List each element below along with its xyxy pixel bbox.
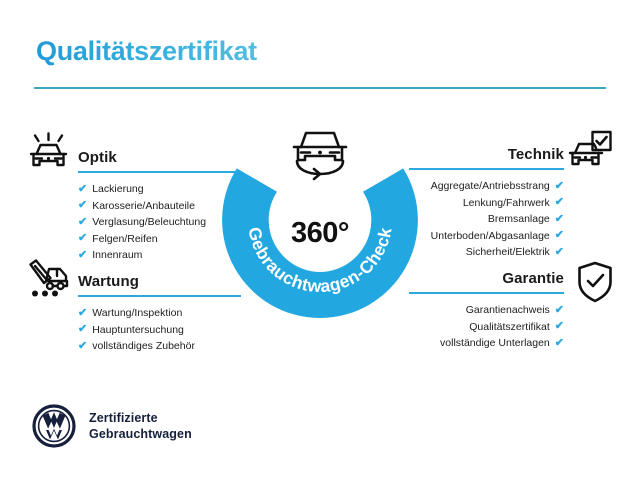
check-icon: ✔: [78, 184, 87, 195]
title-divider: [34, 87, 606, 89]
section-wartung: Wartung ✔ Wartung/Inspektion ✔ Hauptunte…: [78, 267, 241, 355]
volkswagen-logo: [32, 404, 76, 448]
check-icon: ✔: [555, 197, 564, 208]
section-technik-divider: [409, 168, 564, 170]
list-item: ✔ Hauptuntersuchung: [78, 322, 241, 339]
section-wartung-list: ✔ Wartung/Inspektion ✔ Hauptuntersuchung…: [78, 305, 241, 355]
section-technik-heading: Technik: [508, 146, 564, 163]
list-item: ✔ Qualitätszertifikat: [409, 319, 564, 336]
check-icon: ✔: [78, 250, 87, 261]
car-service-pen-icon: [26, 258, 72, 305]
check-icon: ✔: [78, 217, 87, 228]
check-icon: ✔: [78, 324, 87, 335]
section-optik-divider: [78, 171, 241, 173]
section-optik-list: ✔ Lackierung ✔ Karosserie/Anbauteile ✔ V…: [78, 181, 241, 264]
section-wartung-heading: Wartung: [78, 273, 139, 290]
list-item: ✔ vollständiges Zubehör: [78, 338, 241, 355]
section-garantie-heading: Garantie: [502, 270, 564, 287]
qualitaetszertifikat-page: Qualitätszertifikat: [0, 0, 640, 480]
section-technik-list: ✔ Aggregate/Antriebsstrang ✔ Lenkung/Fah…: [409, 178, 564, 261]
list-item-label: Lackierung: [92, 181, 143, 198]
volkswagen-footer: Zertifizierte Gebrauchtwagen: [32, 404, 192, 448]
list-item: ✔ Innenraum: [78, 247, 241, 264]
list-item: ✔ Aggregate/Antriebsstrang: [409, 178, 564, 195]
list-item: ✔ Bremsanlage: [409, 211, 564, 228]
volkswagen-footer-text: Zertifizierte Gebrauchtwagen: [89, 410, 192, 442]
list-item-label: Verglasung/Beleuchtung: [92, 214, 206, 231]
list-item: ✔ Unterboden/Abgasanlage: [409, 228, 564, 245]
section-wartung-divider: [78, 295, 241, 297]
check-icon: ✔: [78, 200, 87, 211]
list-item-label: Unterboden/Abgasanlage: [431, 228, 550, 245]
car-front-rotate-icon: [284, 125, 356, 185]
list-item-label: Sicherheit/Elektrik: [466, 244, 550, 261]
list-item-label: Aggregate/Antriebsstrang: [431, 178, 550, 195]
check-icon: ✔: [78, 308, 87, 319]
list-item-label: vollständige Unterlagen: [440, 335, 550, 352]
section-optik: Optik ✔ Lackierung ✔ Karosserie/Anbautei…: [78, 143, 241, 264]
car-shine-icon: [26, 132, 72, 181]
list-item-label: Felgen/Reifen: [92, 231, 157, 248]
check-icon: ✔: [555, 247, 564, 258]
gebrauchtwagen-check-badge: Gebrauchtwagen-Check 360°: [222, 122, 418, 318]
shield-check-icon: [575, 260, 615, 309]
list-item: ✔ Karosserie/Anbauteile: [78, 198, 241, 215]
car-checkbox-icon: [568, 129, 614, 178]
section-optik-head: Optik: [78, 143, 241, 173]
section-optik-heading: Optik: [78, 149, 117, 166]
list-item: ✔ Verglasung/Beleuchtung: [78, 214, 241, 231]
section-wartung-head: Wartung: [78, 267, 241, 297]
list-item-label: Qualitätszertifikat: [469, 319, 550, 336]
list-item-label: Karosserie/Anbauteile: [92, 198, 195, 215]
list-item-label: Garantienachweis: [466, 302, 550, 319]
list-item-label: Innenraum: [92, 247, 142, 264]
check-icon: ✔: [78, 341, 87, 352]
list-item-label: vollständiges Zubehör: [92, 338, 195, 355]
check-icon: ✔: [555, 230, 564, 241]
section-garantie-divider: [409, 292, 564, 294]
section-garantie-list: ✔ Garantienachweis ✔ Qualitätszertifikat…: [409, 302, 564, 352]
badge-center-label: 360°: [222, 217, 418, 250]
list-item: ✔ Lackierung: [78, 181, 241, 198]
list-item: ✔ Lenkung/Fahrwerk: [409, 195, 564, 212]
list-item: ✔ Wartung/Inspektion: [78, 305, 241, 322]
section-garantie: Garantie ✔ Garantienachweis ✔ Qualitätsz…: [409, 264, 564, 352]
list-item: ✔ vollständige Unterlagen: [409, 335, 564, 352]
section-garantie-head: Garantie: [409, 264, 564, 294]
check-icon: ✔: [555, 214, 564, 225]
check-icon: ✔: [555, 321, 564, 332]
list-item-label: Lenkung/Fahrwerk: [463, 195, 550, 212]
check-icon: ✔: [555, 181, 564, 192]
page-title: Qualitätszertifikat: [36, 36, 257, 67]
section-technik-head: Technik: [409, 140, 564, 170]
section-technik: Technik ✔ Aggregate/Antriebsstrang ✔ Len…: [409, 140, 564, 261]
list-item-label: Wartung/Inspektion: [92, 305, 182, 322]
footer-line-2: Gebrauchtwagen: [89, 426, 192, 442]
list-item-label: Hauptuntersuchung: [92, 322, 184, 339]
list-item: ✔ Garantienachweis: [409, 302, 564, 319]
list-item-label: Bremsanlage: [488, 211, 550, 228]
check-icon: ✔: [555, 305, 564, 316]
list-item: ✔ Felgen/Reifen: [78, 231, 241, 248]
check-icon: ✔: [78, 233, 87, 244]
check-icon: ✔: [555, 338, 564, 349]
footer-line-1: Zertifizierte: [89, 410, 192, 426]
list-item: ✔ Sicherheit/Elektrik: [409, 244, 564, 261]
